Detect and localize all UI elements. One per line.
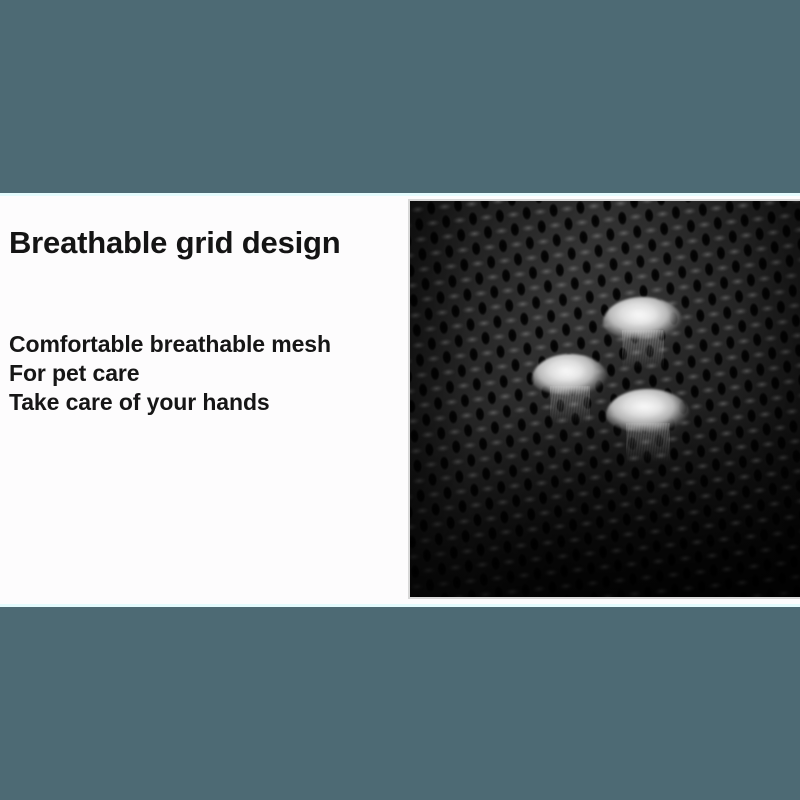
mesh-fabric-photo	[410, 201, 800, 597]
page-title: Breathable grid design	[9, 225, 341, 261]
mesh-vignette	[410, 201, 800, 597]
seam-bottom	[0, 604, 800, 607]
list-item: For pet care	[9, 359, 331, 388]
letterbox-band-top	[0, 0, 800, 193]
feature-list: Comfortable breathable mesh For pet care…	[9, 330, 331, 417]
product-banner: Breathable grid design Comfortable breat…	[0, 0, 800, 800]
letterbox-band-bottom	[0, 607, 800, 800]
text-column: Breathable grid design Comfortable breat…	[0, 196, 430, 604]
list-item: Comfortable breathable mesh	[9, 330, 331, 359]
product-photo-frame	[408, 199, 800, 599]
seam-top	[0, 193, 800, 196]
list-item: Take care of your hands	[9, 388, 331, 417]
